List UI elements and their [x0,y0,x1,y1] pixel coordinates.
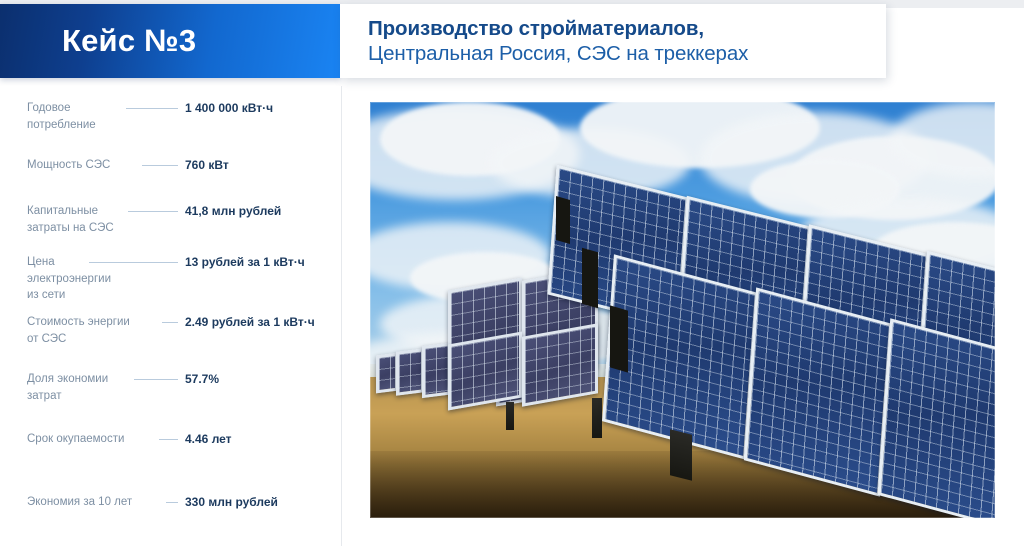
header-title-line1: Производство стройматериалов, [368,16,886,41]
stat-value: 1 400 000 кВт·ч [185,100,327,117]
stat-connector-rule [128,211,178,212]
stat-row: Стоимость энергии от СЭС2.49 рублей за 1… [27,314,327,347]
stat-row: Экономия за 10 лет330 млн рублей [27,494,327,511]
stat-label: Срок окупаемости [27,431,152,448]
stat-row: Годовое потребление1 400 000 кВт·ч [27,100,327,133]
stat-value: 330 млн рублей [185,494,327,511]
stat-label: Цена электроэнергии из сети [27,254,82,304]
stat-connector-rule [89,262,178,263]
stat-value: 4.46 лет [185,431,327,448]
stat-value: 41,8 млн рублей [185,203,327,220]
stats-panel: Годовое потребление1 400 000 кВт·чМощнос… [0,86,342,546]
stat-row: Мощность СЭС760 кВт [27,157,327,174]
stat-label: Доля экономии затрат [27,371,127,404]
stat-value: 760 кВт [185,157,327,174]
header-title-line2: Центральная Россия, СЭС на треккерах [368,41,886,66]
stat-label: Годовое потребление [27,100,119,133]
stat-connector-rule [162,322,178,323]
stat-label: Капитальные затраты на СЭС [27,203,121,236]
case-badge-title: Кейс №3 [62,23,196,59]
stat-label: Стоимость энергии от СЭС [27,314,155,347]
solar-panel-photo [370,102,995,518]
stat-row: Цена электроэнергии из сети13 рублей за … [27,254,327,304]
photo-inner [370,102,995,518]
stat-connector-rule [159,439,178,440]
stat-row: Капитальные затраты на СЭС41,8 млн рубле… [27,203,327,236]
stat-value: 2.49 рублей за 1 кВт·ч [185,314,327,331]
stat-label: Мощность СЭС [27,157,135,174]
stat-label: Экономия за 10 лет [27,494,159,511]
stat-row: Доля экономии затрат57.7% [27,371,327,404]
stat-connector-rule [134,379,178,380]
header-card: Производство стройматериалов, Центральна… [340,4,886,78]
case-badge: Кейс №3 [0,4,340,78]
stat-connector-rule [126,108,178,109]
slide-canvas: Кейс №3 Производство стройматериалов, Це… [0,0,1024,546]
stat-value: 13 рублей за 1 кВт·ч [185,254,327,271]
stat-value: 57.7% [185,371,327,388]
stat-connector-rule [166,502,178,503]
stat-row: Срок окупаемости4.46 лет [27,431,327,448]
stat-connector-rule [142,165,178,166]
